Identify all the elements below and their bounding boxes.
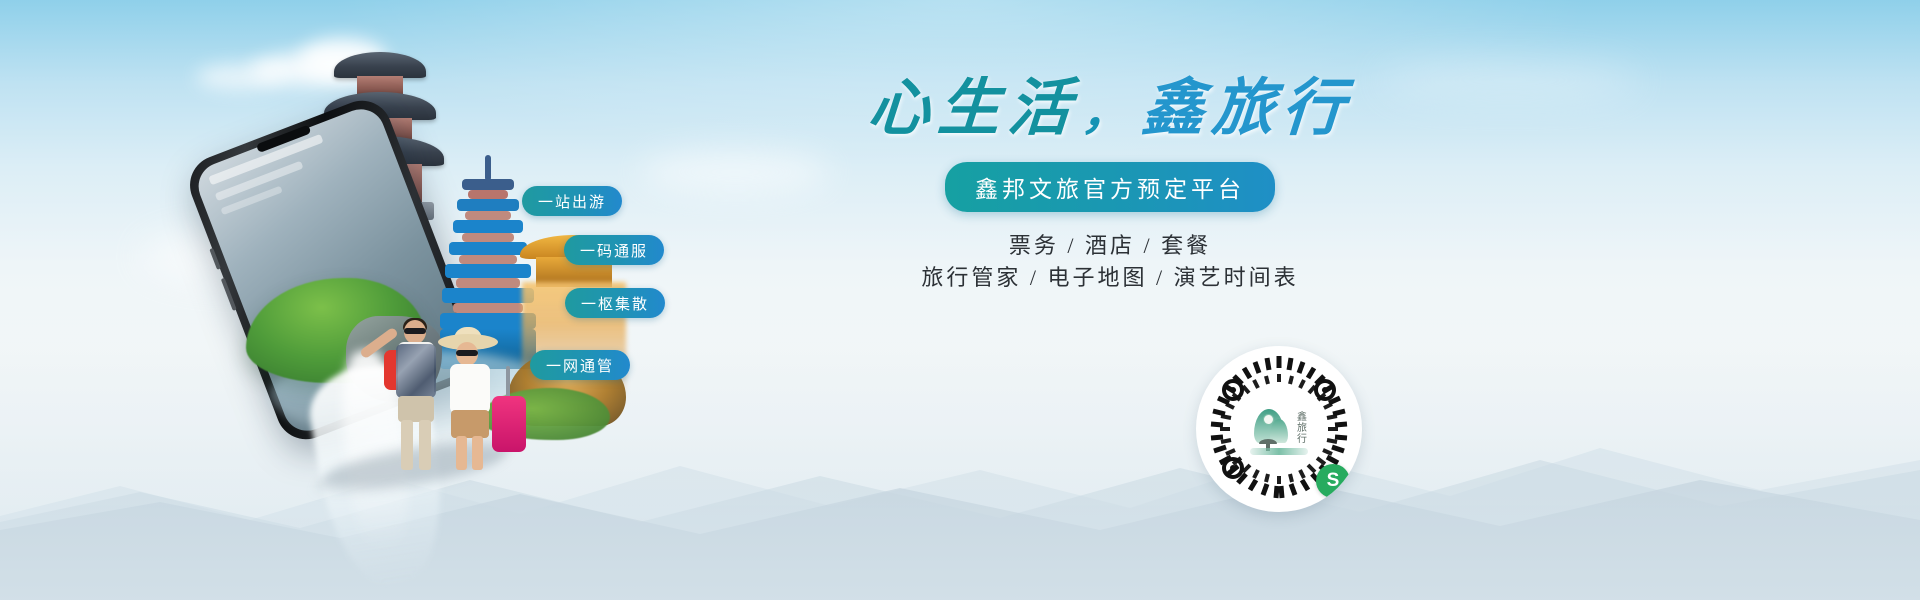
service-list: 票务 / 酒店 / 套餐 旅行管家 / 电子地图 / 演艺时间表 xyxy=(810,230,1410,294)
suitcase-icon xyxy=(492,396,526,452)
headline-part-1: 心生活 xyxy=(866,75,1081,143)
wechat-miniprogram-qr-code[interactable]: 鑫旅行 S xyxy=(1196,346,1362,512)
cloud-icon xyxy=(1380,60,1640,100)
feature-pill-one-stop-travel[interactable]: 一站出游 xyxy=(522,186,622,216)
service-line-2: 旅行管家 / 电子地图 / 演艺时间表 xyxy=(810,262,1410,294)
qr-center-logo: 鑫旅行 xyxy=(1245,395,1313,463)
traveler-couple-photo xyxy=(346,310,526,490)
headline-comma: ， xyxy=(1076,87,1144,140)
service-line-1: 票务 / 酒店 / 套餐 xyxy=(810,230,1410,262)
sunglasses-icon xyxy=(456,350,478,356)
cloud-icon xyxy=(640,150,830,194)
sunglasses-icon xyxy=(404,328,426,334)
travel-promo-banner: 一站出游 一码通服 一枢集散 一网通管 心生活，鑫旅行 鑫邦文旅官方预定平台 票… xyxy=(0,0,1920,600)
promo-text-block: 心生活，鑫旅行 鑫邦文旅官方预定平台 票务 / 酒店 / 套餐 旅行管家 / 电… xyxy=(810,78,1410,294)
sun-icon xyxy=(1263,414,1274,425)
headline: 心生活，鑫旅行 xyxy=(808,78,1412,140)
headline-part-2: 鑫旅行 xyxy=(1140,75,1355,143)
feature-pill-one-network-management[interactable]: 一网通管 xyxy=(530,350,630,380)
wechat-miniprogram-icon: S xyxy=(1316,464,1350,498)
feature-pill-one-code-service[interactable]: 一码通服 xyxy=(564,235,664,265)
phone-scenery-composition xyxy=(150,20,620,580)
qr-logo-text: 鑫旅行 xyxy=(1297,412,1311,445)
official-platform-badge: 鑫邦文旅官方预定平台 xyxy=(945,162,1275,212)
suitcase-handle xyxy=(506,366,510,398)
feature-pill-one-hub-transfer[interactable]: 一枢集散 xyxy=(565,288,665,318)
